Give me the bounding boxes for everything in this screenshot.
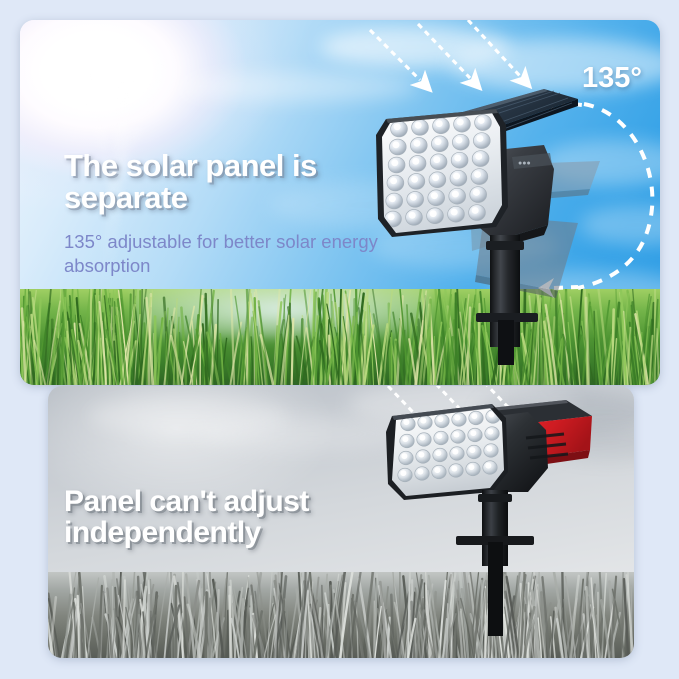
led-head [386,404,508,500]
product-solar-spotlight-separate-panel: ●●● [372,65,652,365]
panel-advantage: ●●● The solar panel is separate 135° a [20,20,660,385]
panel-drawback: Panel can't adjust independently [48,386,634,658]
mounting-pole [456,490,534,636]
panel-advantage-subhead: 135° adjustable for better solar energy … [64,230,384,277]
comparison-infographic: ●●● The solar panel is separate 135° a [0,0,679,679]
panel-drawback-headline: Panel can't adjust independently [64,486,364,548]
svg-text:●●●: ●●● [518,160,531,167]
angle-label-135: 135° [582,62,642,95]
led-head [376,109,508,237]
panel-advantage-headline: The solar panel is separate [64,150,394,214]
product-solar-spotlight-fixed-panel [378,396,628,636]
